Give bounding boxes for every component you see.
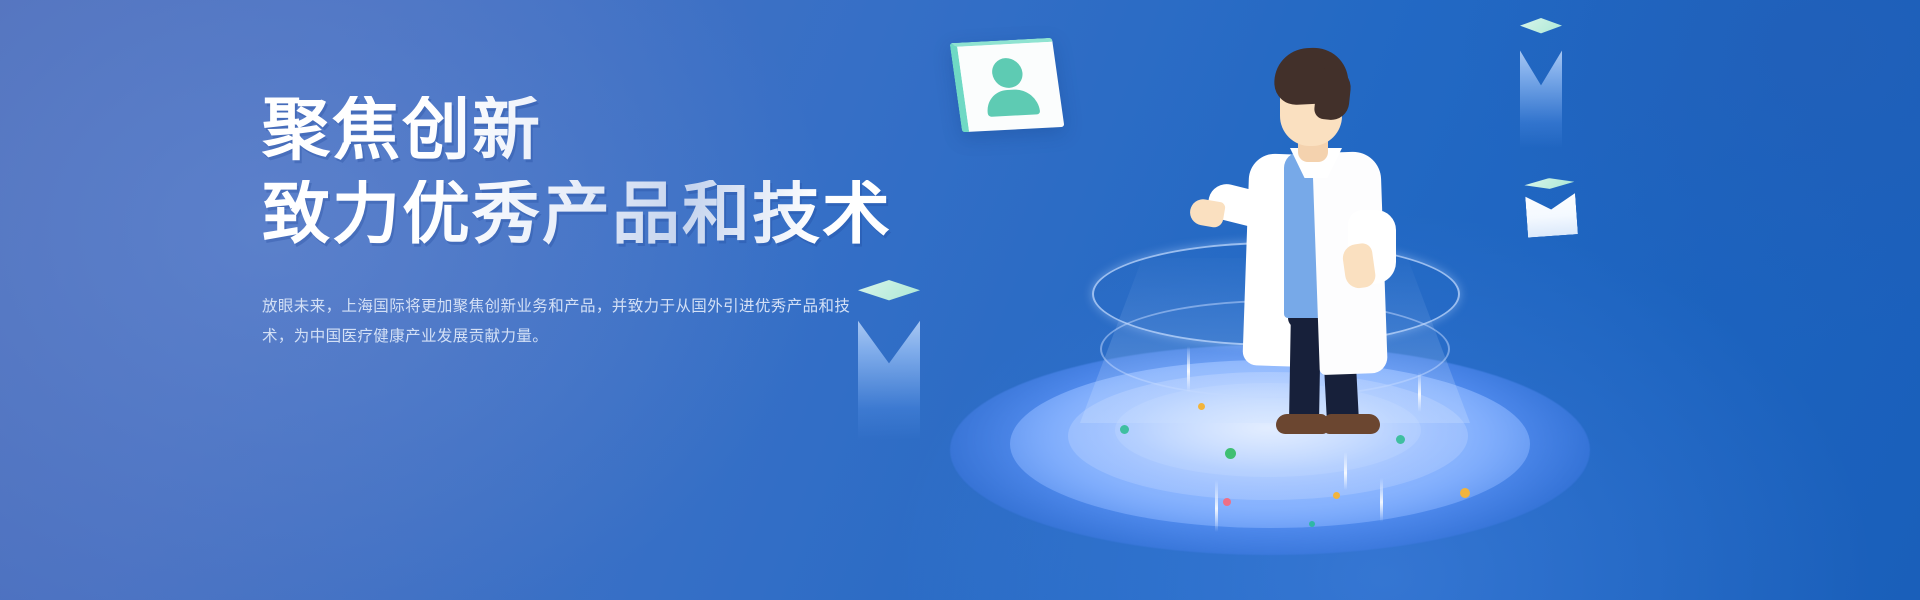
streak-low-right: [1380, 478, 1383, 522]
decor-bar-left-front: [858, 298, 920, 440]
dot-green-mid: [1225, 448, 1236, 459]
headline-line-1: 聚焦创新: [262, 96, 902, 164]
streak-low-left: [1215, 480, 1218, 532]
decor-bar-tall-front: [1520, 32, 1562, 148]
decor-bar-tall: [1520, 18, 1562, 148]
decor-bar-short-front: [1525, 185, 1578, 237]
streak-mid: [1344, 452, 1347, 490]
shoe-right: [1324, 414, 1380, 434]
headline-line-2: 致力优秀产品和技术: [262, 180, 902, 248]
shoe-left: [1276, 414, 1328, 434]
streak-upper-left: [1187, 346, 1190, 392]
doctor-figure: [1198, 48, 1428, 448]
banner-copy-block: 聚焦创新 致力优秀产品和技术 放眼未来，上海国际将更加聚焦创新业务和产品，并致力…: [262, 96, 902, 352]
floating-user-card: [950, 38, 1065, 132]
pointing-hand: [1188, 197, 1226, 229]
dot-teal-foot: [1309, 521, 1315, 527]
decor-bar-tall-top: [1520, 18, 1562, 42]
dot-yellow-far: [1460, 488, 1470, 498]
decor-bar-left-top: [858, 280, 920, 310]
decor-bar-short: [1524, 176, 1578, 237]
hero-banner: 聚焦创新 致力优秀产品和技术 放眼未来，上海国际将更加聚焦创新业务和产品，并致力…: [0, 0, 1920, 600]
decor-bar-left: [858, 280, 920, 440]
dot-pink-low: [1223, 498, 1231, 506]
dot-yellow-mid: [1333, 492, 1340, 499]
decor-bar-short-top: [1524, 176, 1575, 195]
dot-teal-left: [1120, 425, 1129, 434]
banner-paragraph: 放眼未来，上海国际将更加聚焦创新业务和产品，并致力于从国外引进优秀产品和技术，为…: [262, 292, 862, 352]
hero-illustration: [940, 0, 1700, 600]
